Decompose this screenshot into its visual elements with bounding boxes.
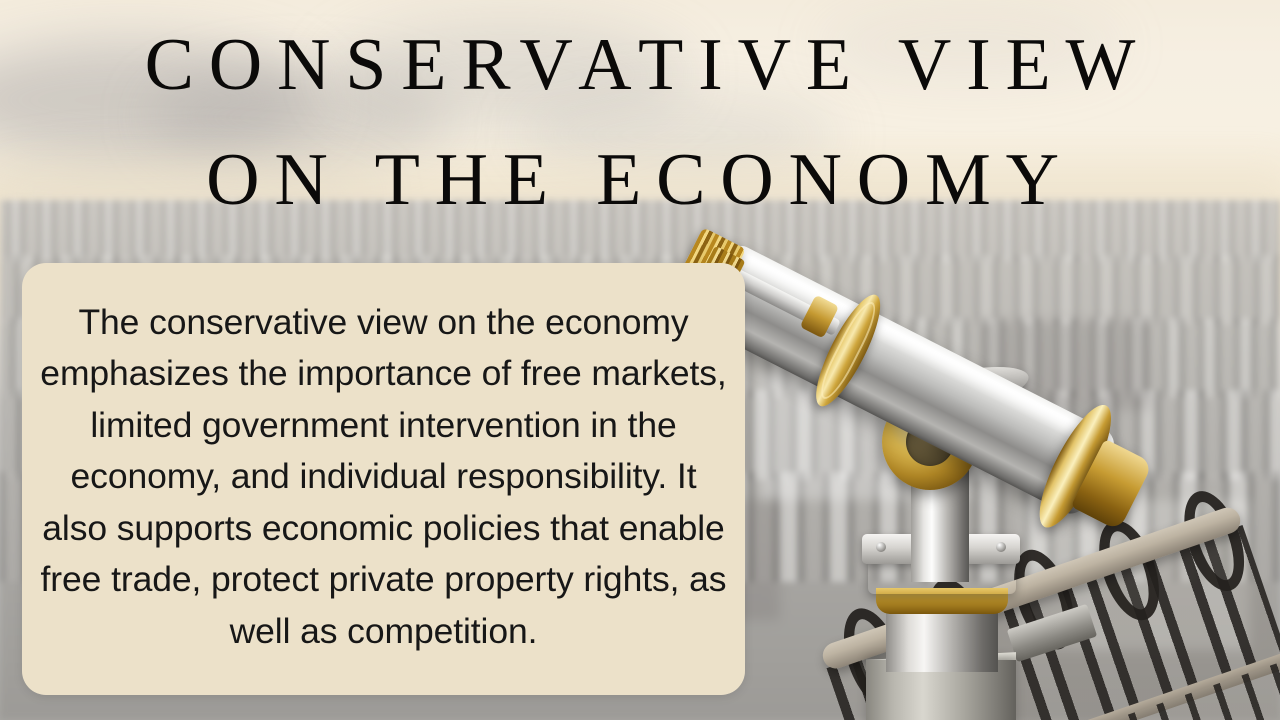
mount-bolt [876, 542, 886, 552]
mount-bolt [996, 542, 1006, 552]
poster-canvas: CONSERVATIVE VIEW ON THE ECONOMY The con… [0, 0, 1280, 720]
body-paragraph: The conservative view on the economy emp… [38, 297, 729, 658]
telescope-base-barrel [886, 610, 998, 672]
page-title: CONSERVATIVE VIEW ON THE ECONOMY [0, 8, 1280, 237]
telescope-bracket [1007, 604, 1097, 662]
body-text-card: The conservative view on the economy emp… [22, 263, 745, 695]
